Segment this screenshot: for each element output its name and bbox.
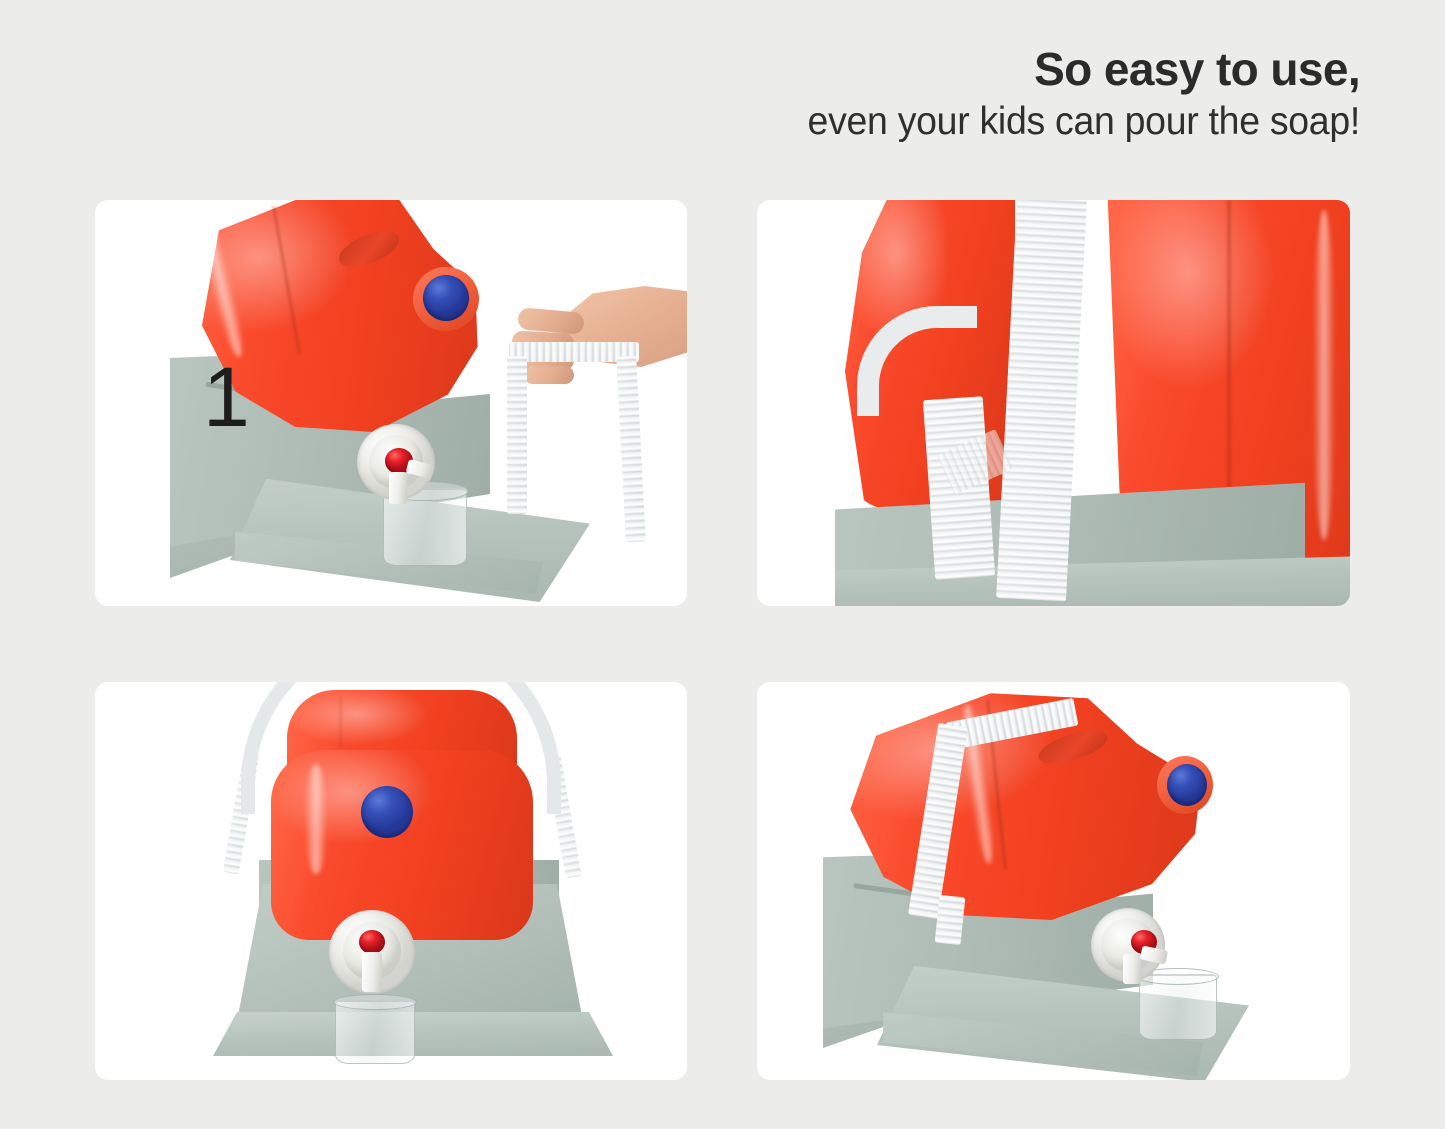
jug-face-crease <box>339 696 342 748</box>
step-panel-4: 4 <box>757 682 1350 1080</box>
step-1-scene <box>95 200 687 606</box>
cap-collar <box>413 267 479 331</box>
hand-palm <box>544 286 687 378</box>
finger-index <box>517 307 585 335</box>
step-4-scene <box>757 682 1350 1080</box>
jug-crease <box>272 206 301 354</box>
strap-side-left <box>223 754 260 875</box>
step-panel-3: 3 <box>95 682 687 1080</box>
jug-highlight-4 <box>958 704 998 865</box>
jug-highlight <box>193 209 249 359</box>
hand <box>490 278 687 438</box>
finger-pinky <box>524 366 574 384</box>
strap-top-span <box>509 342 639 362</box>
cap-collar-4 <box>1157 756 1213 814</box>
strap-right-leg <box>616 356 646 543</box>
strap-side-right <box>544 754 581 879</box>
strap-over-top <box>946 698 1079 750</box>
step-panel-1: 1 <box>95 200 687 606</box>
jug-top-shoulder <box>287 690 517 800</box>
blue-cap <box>423 275 469 321</box>
strap-left-leg <box>507 356 527 514</box>
measuring-cup-rim-1 <box>381 481 469 501</box>
step-panel-2: 2 <box>757 200 1350 606</box>
finger-ring <box>516 349 574 370</box>
jug-closeup-highlight <box>1313 210 1335 540</box>
step-3-scene <box>95 682 687 1080</box>
page-subtitle: even your kids can pour the soap! <box>592 99 1360 145</box>
finger-middle <box>511 330 574 354</box>
headline-block: So easy to use, even your kids can pour … <box>560 46 1360 145</box>
blue-cap-4 <box>1167 764 1207 806</box>
page-title: So easy to use, <box>560 46 1360 92</box>
measuring-cup-rim-3 <box>333 994 417 1010</box>
step-2-scene <box>757 200 1350 606</box>
jug-closeup-left <box>845 200 1015 510</box>
measuring-cup-rim-4 <box>1137 968 1219 985</box>
jug-crease-4 <box>986 700 1007 869</box>
step-number-1: 1 <box>203 363 250 432</box>
jug-handle-grip-4 <box>1035 724 1112 771</box>
jug-handle-grip <box>334 224 404 274</box>
strap-arch <box>241 682 561 814</box>
jug-face-highlight <box>305 764 327 874</box>
blue-cap-3 <box>361 786 413 838</box>
